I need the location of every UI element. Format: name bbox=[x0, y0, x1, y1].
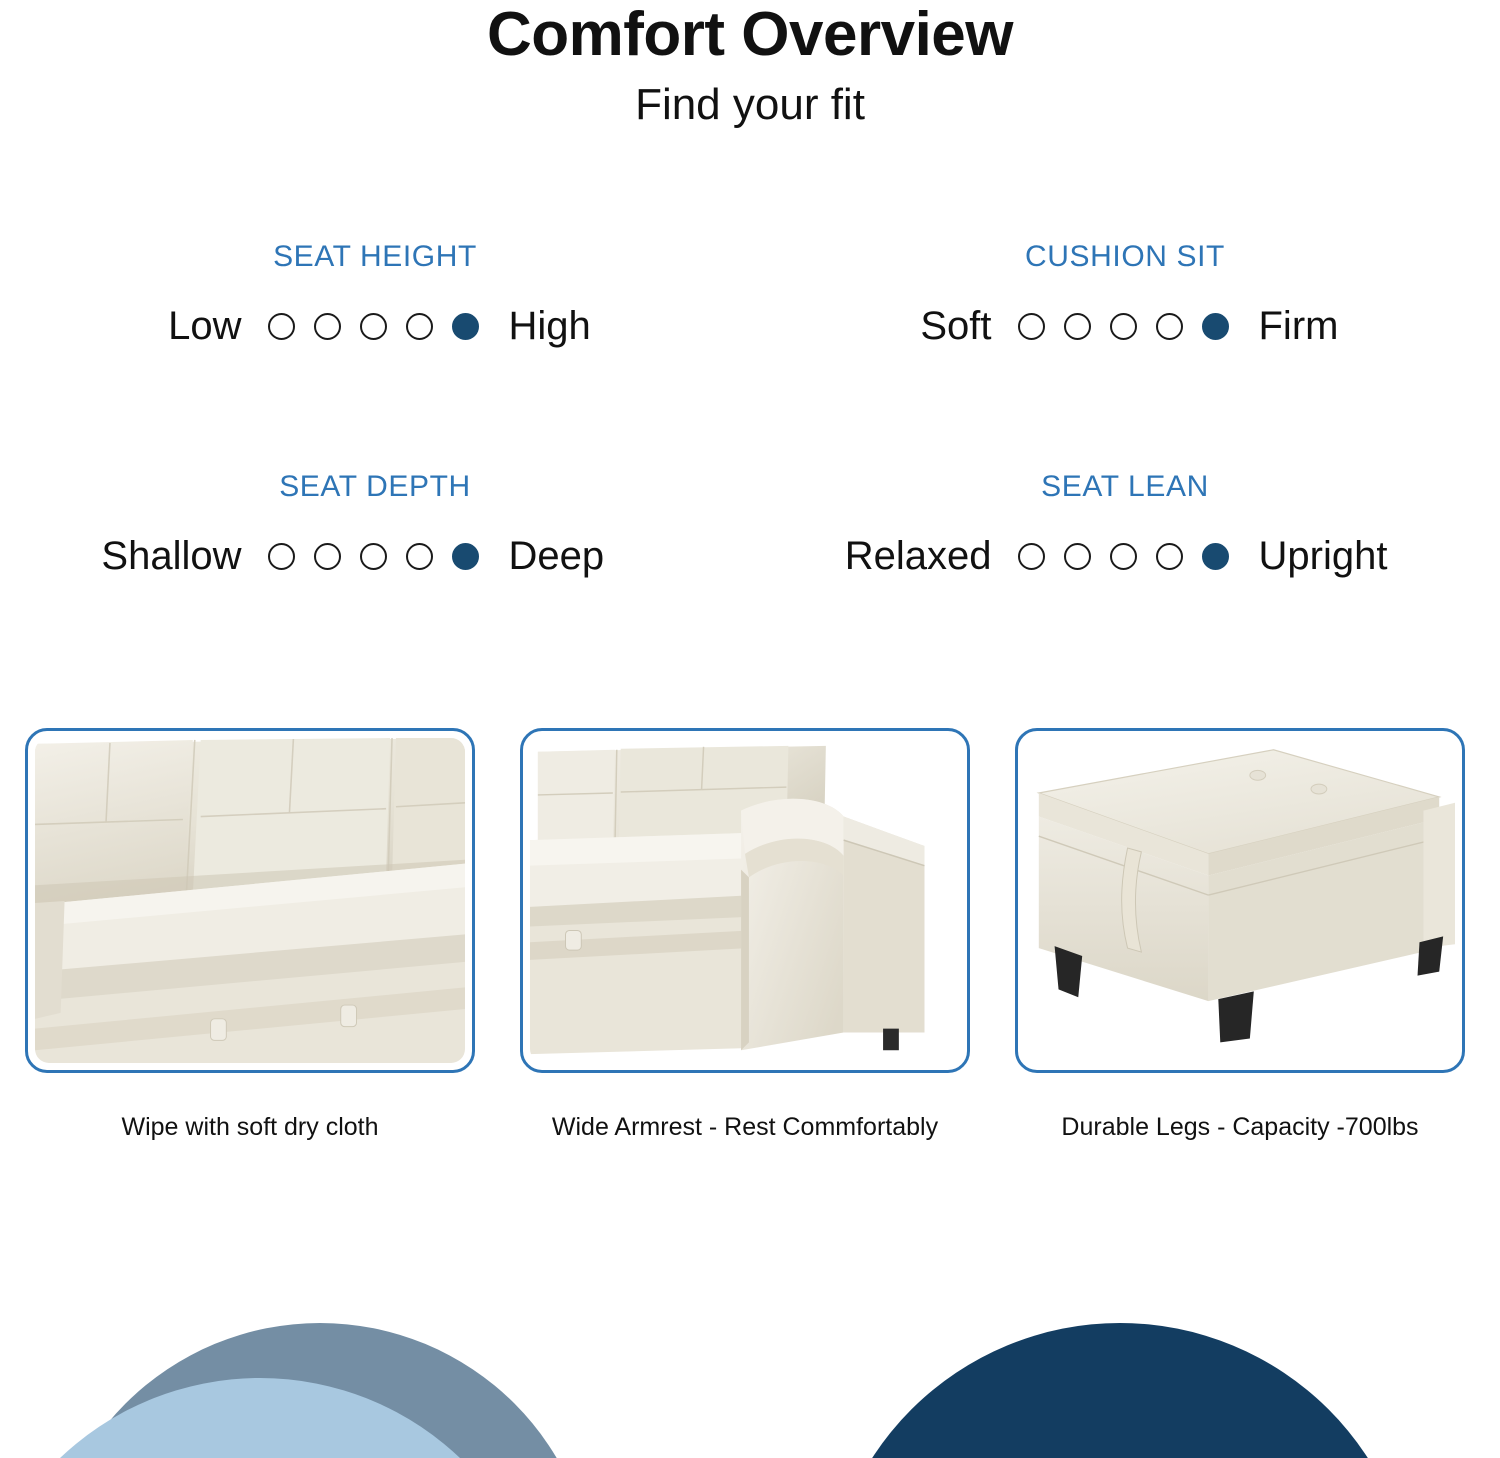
rating-dot-2[interactable] bbox=[314, 313, 341, 340]
rating-dots-seat-lean bbox=[1018, 543, 1229, 570]
scale-row-cushion-sit: Soft Firm bbox=[750, 306, 1500, 346]
rating-dot-2[interactable] bbox=[314, 543, 341, 570]
rating-dot-5-selected[interactable] bbox=[1202, 313, 1229, 340]
feature-card-legs: Durable Legs - Capacity -700lbs bbox=[1015, 728, 1465, 1142]
rating-dot-1[interactable] bbox=[1018, 543, 1045, 570]
photo-frame-3[interactable] bbox=[1015, 728, 1465, 1073]
rating-dots-seat-depth bbox=[268, 543, 479, 570]
feature-card-fabric-care: Wipe with soft dry cloth bbox=[25, 728, 475, 1142]
rating-dot-2[interactable] bbox=[1064, 543, 1091, 570]
scale-seat-height: SEAT HEIGHT Low High bbox=[0, 240, 750, 470]
rating-dot-3[interactable] bbox=[1110, 543, 1137, 570]
scale-title-seat-height: SEAT HEIGHT bbox=[273, 240, 477, 306]
deco-arc-navy bbox=[825, 1323, 1415, 1458]
sofa-armrest-illustration bbox=[530, 738, 960, 1063]
feature-caption-2: Wide Armrest - Rest Commfortably bbox=[520, 1073, 970, 1142]
rating-dot-4[interactable] bbox=[406, 313, 433, 340]
rating-dot-4[interactable] bbox=[406, 543, 433, 570]
scale-left-label-seat-height: Low bbox=[12, 306, 268, 346]
scale-left-label-seat-lean: Relaxed bbox=[762, 536, 1018, 576]
page-header: Comfort Overview Find your fit bbox=[0, 0, 1500, 129]
scale-seat-lean: SEAT LEAN Relaxed Upright bbox=[750, 470, 1500, 700]
rating-dot-4[interactable] bbox=[1156, 313, 1183, 340]
rating-dots-cushion-sit bbox=[1018, 313, 1229, 340]
storage-ottoman-illustration bbox=[1025, 738, 1455, 1063]
rating-dot-3[interactable] bbox=[1110, 313, 1137, 340]
storage-ottoman-legs-photo bbox=[1025, 738, 1455, 1063]
rating-dot-3[interactable] bbox=[360, 313, 387, 340]
rating-dot-2[interactable] bbox=[1064, 313, 1091, 340]
photo-frame-1[interactable] bbox=[25, 728, 475, 1073]
rating-dot-3[interactable] bbox=[360, 543, 387, 570]
scale-title-seat-depth: SEAT DEPTH bbox=[279, 470, 471, 536]
scale-seat-depth: SEAT DEPTH Shallow Deep bbox=[0, 470, 750, 700]
feature-card-armrest: Wide Armrest - Rest Commfortably bbox=[520, 728, 970, 1142]
decorative-circles bbox=[0, 1298, 1500, 1458]
scale-row-seat-lean: Relaxed Upright bbox=[750, 536, 1500, 576]
scale-left-label-cushion-sit: Soft bbox=[762, 306, 1018, 346]
feature-caption-1: Wipe with soft dry cloth bbox=[25, 1073, 475, 1142]
feature-photo-row: Wipe with soft dry cloth bbox=[0, 728, 1500, 1142]
sofa-seat-closeup-illustration bbox=[35, 738, 465, 1063]
rating-dot-1[interactable] bbox=[1018, 313, 1045, 340]
scale-row-seat-height: Low High bbox=[0, 306, 750, 346]
scale-left-label-seat-depth: Shallow bbox=[12, 536, 268, 576]
rating-dot-4[interactable] bbox=[1156, 543, 1183, 570]
comfort-scales-grid: SEAT HEIGHT Low High CUSHION SIT Soft bbox=[0, 240, 1500, 700]
scale-title-cushion-sit: CUSHION SIT bbox=[1025, 240, 1225, 306]
scale-right-label-cushion-sit: Firm bbox=[1229, 306, 1489, 346]
rating-dot-1[interactable] bbox=[268, 313, 295, 340]
scale-right-label-seat-lean: Upright bbox=[1229, 536, 1489, 576]
feature-caption-3: Durable Legs - Capacity -700lbs bbox=[1015, 1073, 1465, 1142]
footer-decorative-arcs bbox=[0, 1298, 1500, 1458]
sofa-seat-closeup-photo bbox=[35, 738, 465, 1063]
scale-right-label-seat-height: High bbox=[479, 306, 739, 346]
photo-frame-2[interactable] bbox=[520, 728, 970, 1073]
rating-dot-1[interactable] bbox=[268, 543, 295, 570]
scale-cushion-sit: CUSHION SIT Soft Firm bbox=[750, 240, 1500, 470]
page-title: Comfort Overview bbox=[0, 0, 1500, 67]
sofa-armrest-photo bbox=[530, 738, 960, 1063]
rating-dots-seat-height bbox=[268, 313, 479, 340]
rating-dot-5-selected[interactable] bbox=[452, 313, 479, 340]
scale-title-seat-lean: SEAT LEAN bbox=[1041, 470, 1209, 536]
scale-right-label-seat-depth: Deep bbox=[479, 536, 739, 576]
rating-dot-5-selected[interactable] bbox=[1202, 543, 1229, 570]
scale-row-seat-depth: Shallow Deep bbox=[0, 536, 750, 576]
page-subtitle: Find your fit bbox=[0, 67, 1500, 129]
rating-dot-5-selected[interactable] bbox=[452, 543, 479, 570]
